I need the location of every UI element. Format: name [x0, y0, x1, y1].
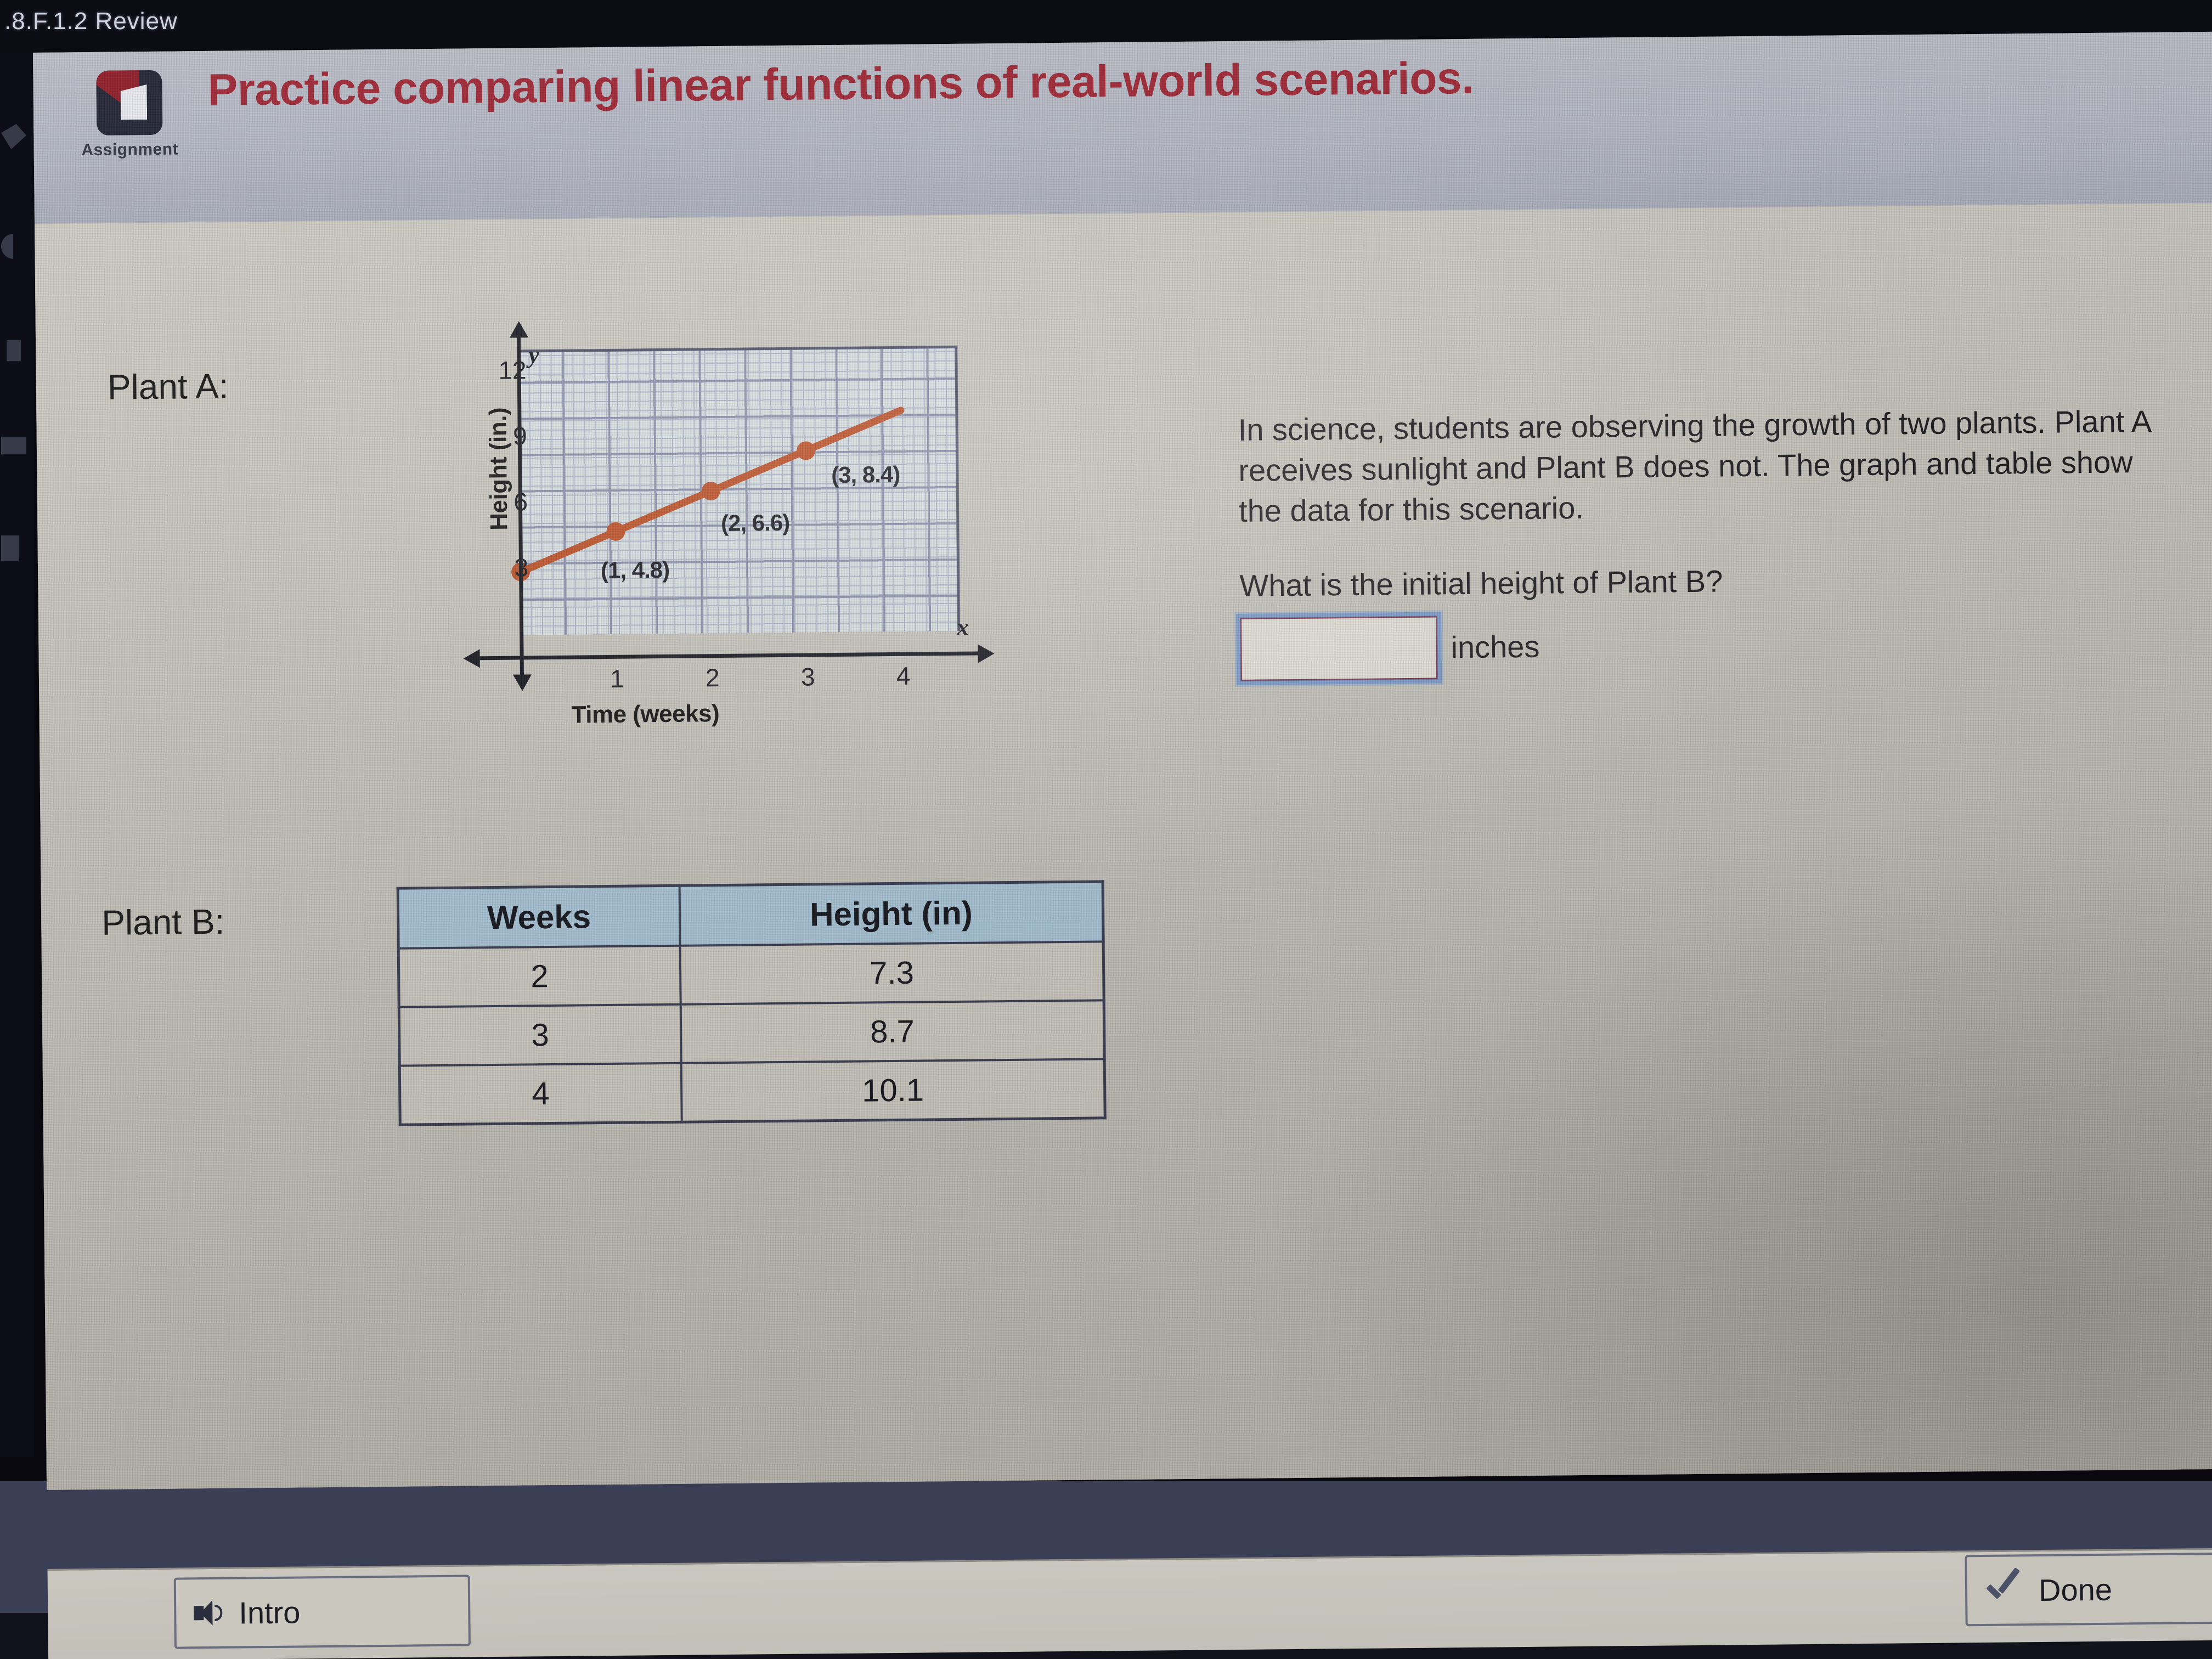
graph-y-tick-labels: 36912 [442, 340, 1122, 346]
graph-series-line [518, 348, 960, 638]
graph-x-axis-letter: x [957, 613, 969, 641]
graph-point-labels: (1, 4.8)(2, 6.6)(3, 8.4) [442, 340, 1122, 346]
graph-x-tick-label: 2 [696, 663, 730, 693]
graph-data-point [701, 482, 720, 500]
assignment-body: Plant A: Plant B: Height (in.) y [35, 203, 2212, 1490]
intro-button[interactable]: Intro [174, 1575, 471, 1649]
plant-a-graph: Height (in.) y x 36912 1234 (1, 4.8)(2 [442, 340, 1126, 730]
table-cell-height: 7.3 [680, 941, 1104, 1004]
assignment-tile-icon [96, 70, 162, 136]
table-cell-height: 10.1 [681, 1059, 1105, 1122]
table-cell-weeks: 3 [399, 1005, 681, 1066]
photographed-screen: .8.F.1.2 Review Assignment Practice comp… [0, 0, 2212, 1659]
assignment-badge-label: Assignment [81, 140, 178, 160]
graph-y-tick-label: 6 [513, 487, 528, 516]
answer-input[interactable] [1240, 616, 1438, 681]
page-title: Practice comparing linear functions of r… [192, 42, 2191, 115]
graph-x-tick-label: 3 [791, 662, 825, 692]
answer-row: inches [1240, 608, 2173, 681]
intro-button-label: Intro [239, 1594, 301, 1630]
table-cell-height: 8.7 [680, 1000, 1104, 1063]
graph-plot-area [518, 346, 960, 635]
table-header-weeks: Weeks [398, 885, 680, 948]
plant-b-label: Plant B: [101, 901, 225, 943]
graph-y-tick-label: 12 [498, 355, 527, 385]
graph-x-tick-label: 4 [887, 661, 920, 691]
graph-x-axis-arrow-left-icon [463, 649, 479, 668]
table-cell-weeks: 4 [399, 1063, 681, 1125]
scenario-text: In science, students are observing the g… [1238, 401, 2171, 532]
assignment-badge: Assignment [66, 61, 193, 160]
graph-data-point [797, 441, 815, 460]
graph-point-label: (3, 8.4) [831, 461, 900, 488]
question-column: In science, students are observing the g… [1238, 401, 2173, 681]
graph-y-axis-label: Height (in.) [484, 370, 513, 568]
sidebar-glyph-one-icon[interactable] [1, 124, 26, 149]
sidebar-glyph-three-icon[interactable] [1, 338, 26, 363]
sidebar-glyph-four-icon[interactable] [1, 437, 26, 462]
graph-point-label: (1, 4.8) [601, 557, 670, 584]
graph-y-axis-letter: y [528, 341, 539, 369]
graph-x-axis-label: Time (weeks) [571, 700, 719, 729]
plant-b-table: Weeks Height (in) 27.338.7410.1 [397, 880, 1107, 1126]
table-row: 410.1 [399, 1059, 1105, 1125]
table-row: 27.3 [398, 941, 1104, 1007]
table-cell-weeks: 2 [398, 946, 680, 1007]
speaker-icon [193, 1597, 225, 1629]
sidebar-glyph-two-icon[interactable] [1, 234, 26, 259]
answer-units-label: inches [1451, 629, 1539, 665]
graph-point-label: (2, 6.6) [721, 510, 790, 537]
sidebar-glyph-five-icon[interactable] [1, 535, 26, 561]
done-button[interactable]: Done [1965, 1553, 2212, 1627]
plant-a-label: Plant A: [108, 366, 229, 408]
browser-left-sidebar[interactable] [0, 53, 34, 1457]
graph-x-tick-labels: 1234 [442, 340, 1122, 346]
assignment-header: Assignment Practice comparing linear fun… [33, 32, 2212, 224]
question-prompt: What is the initial height of Plant B? [1239, 558, 2172, 603]
check-icon [1983, 1573, 2025, 1607]
graph-y-axis-arrow-down-icon [513, 674, 532, 691]
graph-x-tick-label: 1 [601, 664, 634, 694]
table-header-row: Weeks Height (in) [398, 882, 1103, 949]
graph-x-axis-arrow-right-icon [978, 644, 994, 663]
done-button-label: Done [2039, 1571, 2112, 1607]
graph-y-tick-label: 3 [514, 552, 528, 582]
graph-data-point [606, 522, 625, 541]
graph-x-axis [479, 651, 984, 660]
table-row: 38.7 [399, 1000, 1104, 1065]
graph-y-tick-label: 9 [513, 421, 527, 450]
browser-tab-title[interactable]: .8.F.1.2 Review [4, 8, 178, 35]
assignment-page: Assignment Practice comparing linear fun… [33, 32, 2212, 1490]
table-header-height: Height (in) [679, 882, 1103, 946]
graph-y-axis-arrow-up-icon [510, 321, 528, 337]
table-body: 27.338.7410.1 [398, 941, 1105, 1125]
